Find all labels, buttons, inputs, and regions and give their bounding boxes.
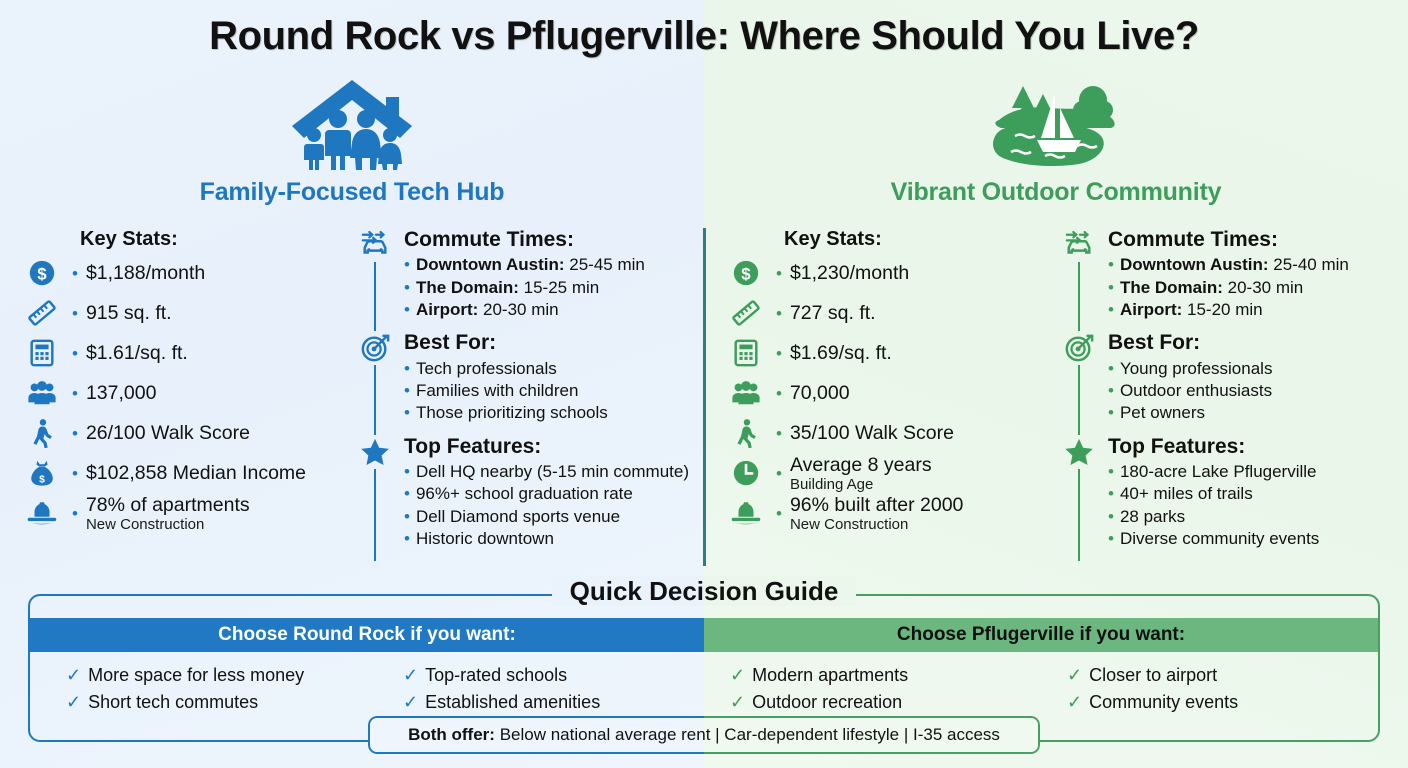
section-title: Top Features: [1108,435,1319,458]
calculator-icon [718,333,774,373]
list-item-text: Families with children [416,381,579,400]
check-icon: ✓ [66,665,81,685]
list-bullet: • [72,465,78,482]
stat-sublabel: New Construction [790,516,963,533]
svg-text:$: $ [37,265,47,284]
list-item-label: Airport: [416,300,478,319]
stat-value: $1,188/month [86,262,205,285]
guide-title: Quick Decision Guide [552,576,857,606]
check-icon: ✓ [730,665,745,685]
section-connector-line [374,262,376,331]
detail-sections-round-rock: Commute Times:•Downtown Austin: 25-45 mi… [352,228,692,561]
list-item: •Downtown Austin: 25-40 min [1108,254,1349,276]
stat-value: 78% of apartments [86,494,250,517]
dollar-coin-icon: $ [718,253,774,293]
list-item: •Families with children [404,380,608,402]
lake-sailboat-trees-icon [704,76,1408,172]
ruler-icon [718,293,774,333]
people-group-icon [718,373,774,413]
check-icon: ✓ [1067,692,1082,712]
list-item-label: The Domain: [1120,278,1223,297]
stat-value: 26/100 Walk Score [86,422,250,445]
check-icon: ✓ [403,665,418,685]
list-item: •96%+ school graduation rate [404,483,689,505]
list-bullet: • [404,462,410,481]
checklist-item-text: Top-rated schools [425,665,567,685]
stat-row: $•$102,858 Median Income [14,453,352,493]
list-bullet: • [1108,359,1114,378]
hero-tagline-right: Vibrant Outdoor Community [704,178,1408,207]
checklist-item-text: Short tech commutes [88,692,258,712]
stat-value: $102,858 Median Income [86,462,306,485]
list-item: •28 parks [1108,506,1319,528]
stat-value: $1.69/sq. ft. [790,342,892,365]
list-item: •The Domain: 20-30 min [1108,277,1349,299]
guide-list-right-2: ✓Closer to airport✓Community events [1041,662,1378,716]
hard-hat-icon [14,493,70,533]
star-icon [360,435,390,469]
list-bullet: • [404,484,410,503]
list-bullet: • [404,278,410,297]
checklist-item-text: More space for less money [88,665,304,685]
list-bullet: • [404,529,410,548]
list-bullet: • [72,505,78,522]
stat-row: •$1.61/sq. ft. [14,333,352,373]
guide-header-pflugerville: Choose Pflugerville if you want: [704,618,1378,652]
guide-list-right-1: ✓Modern apartments✓Outdoor recreation [704,662,1041,716]
list-item: •Historic downtown [404,528,689,550]
clock-icon [718,453,774,493]
checklist-item: ✓Short tech commutes [66,689,367,716]
guide-header-round-rock: Choose Round Rock if you want: [30,618,704,652]
walking-person-icon [14,413,70,453]
both-offer-label: Both offer: [408,725,495,744]
list-item: •Dell Diamond sports venue [404,506,689,528]
stat-value: $1,230/month [790,262,909,285]
svg-text:$: $ [741,265,751,284]
checklist-item: ✓Outdoor recreation [730,689,1041,716]
hero-pflugerville: Vibrant Outdoor Community [704,76,1408,207]
stat-row: $•$1,230/month [718,253,1056,293]
detail-section: Top Features:•Dell HQ nearby (5-15 min c… [352,435,692,561]
list-bullet: • [72,345,78,362]
section-title: Commute Times: [1108,228,1349,251]
list-item-text: 20-30 min [483,300,559,319]
hero-round-rock: Family-Focused Tech Hub [0,76,704,207]
list-item: •Airport: 20-30 min [404,299,645,321]
stat-row: •26/100 Walk Score [14,413,352,453]
list-bullet: • [404,507,410,526]
list-item-text: 180-acre Lake Pflugerville [1120,462,1317,481]
section-title: Top Features: [404,435,689,458]
section-connector-line [1078,262,1080,331]
detail-section: Best For:•Tech professionals•Families wi… [352,331,692,434]
checklist-item: ✓Top-rated schools [403,662,704,689]
calculator-icon [14,333,70,373]
key-stats-heading-left: Key Stats: [80,228,352,251]
list-item: •Dell HQ nearby (5-15 min commute) [404,461,689,483]
guide-list-left-2: ✓Top-rated schools✓Established amenities [367,662,704,716]
target-dart-icon [360,331,390,365]
ruler-icon [14,293,70,333]
list-item-text: 40+ miles of trails [1120,484,1253,503]
list-item-text: 15-20 min [1187,300,1263,319]
list-bullet: • [776,265,782,282]
checklist-item-text: Established amenities [425,692,600,712]
list-item-text: Pet owners [1120,403,1205,422]
stat-value: Average 8 years [790,454,932,477]
stat-value: 96% built after 2000 [790,494,963,517]
list-item-label: Downtown Austin: [1120,255,1269,274]
detail-section: Top Features:•180-acre Lake Pflugerville… [1056,435,1400,561]
hero-tagline-left: Family-Focused Tech Hub [0,178,704,207]
list-item: •180-acre Lake Pflugerville [1108,461,1319,483]
list-bullet: • [1108,507,1114,526]
stat-row: •915 sq. ft. [14,293,352,333]
detail-sections-pflugerville: Commute Times:•Downtown Austin: 25-40 mi… [1056,228,1400,561]
section-connector-line [1078,469,1080,561]
both-offer-callout: Both offer: Below national average rent … [368,716,1040,754]
checklist-item-text: Modern apartments [752,665,908,685]
stat-value: 137,000 [86,382,157,405]
detail-section: Commute Times:•Downtown Austin: 25-40 mi… [1056,228,1400,331]
list-item: •Pet owners [1108,402,1272,424]
stat-row: •$1.69/sq. ft. [718,333,1056,373]
list-bullet: • [776,345,782,362]
list-item-text: Young professionals [1120,359,1273,378]
infographic-root: Round Rock vs Pflugerville: Where Should… [0,0,1408,768]
checklist-item: ✓More space for less money [66,662,367,689]
section-connector-line [1078,365,1080,434]
stat-row: •Average 8 yearsBuilding Age [718,453,1056,493]
both-offer-body: Below national average rent | Car-depend… [500,725,1000,744]
list-item-text: Diverse community events [1120,529,1319,548]
guide-column-round-rock: ✓More space for less money✓Short tech co… [30,662,704,716]
list-item-text: 20-30 min [1228,278,1304,297]
list-bullet: • [1108,403,1114,422]
page-title: Round Rock vs Pflugerville: Where Should… [0,14,1408,59]
money-bag-icon: $ [14,453,70,493]
list-item: •Outdoor enthusiasts [1108,380,1272,402]
section-title: Commute Times: [404,228,645,251]
checklist-item: ✓Modern apartments [730,662,1041,689]
stat-row: •727 sq. ft. [718,293,1056,333]
list-bullet: • [404,381,410,400]
stat-row: •96% built after 2000New Construction [718,493,1056,533]
list-item: •Those prioritizing schools [404,402,608,424]
list-bullet: • [1108,300,1114,319]
stat-value: 70,000 [790,382,850,405]
list-bullet: • [1108,381,1114,400]
check-icon: ✓ [1067,665,1082,685]
list-bullet: • [776,505,782,522]
list-item-text: Those prioritizing schools [416,403,608,422]
checklist-item: ✓Community events [1067,689,1378,716]
list-item: •Airport: 15-20 min [1108,299,1349,321]
list-item-text: Tech professionals [416,359,557,378]
key-stats-round-rock: Key Stats: $•$1,188/month •915 sq. ft. •… [14,228,352,533]
list-item: •The Domain: 15-25 min [404,277,645,299]
section-title: Best For: [404,331,608,354]
guide-list-left-1: ✓More space for less money✓Short tech co… [30,662,367,716]
list-bullet: • [776,305,782,322]
list-item: •Diverse community events [1108,528,1319,550]
list-bullet: • [404,300,410,319]
center-divider [703,228,706,566]
list-item-text: 15-25 min [524,278,600,297]
stat-value: $1.61/sq. ft. [86,342,188,365]
stat-row: •78% of apartmentsNew Construction [14,493,352,533]
detail-section: Best For:•Young professionals•Outdoor en… [1056,331,1400,434]
stat-value: 915 sq. ft. [86,302,172,325]
both-offer-text: Both offer: Below national average rent … [408,725,1000,745]
list-item-text: 25-45 min [569,255,645,274]
guide-column-pflugerville: ✓Modern apartments✓Outdoor recreation ✓C… [704,662,1378,716]
key-stats-heading-right: Key Stats: [784,228,1056,251]
list-bullet: • [72,425,78,442]
stat-row: •70,000 [718,373,1056,413]
star-icon [1064,435,1094,469]
detail-section: Commute Times:•Downtown Austin: 25-45 mi… [352,228,692,331]
check-icon: ✓ [730,692,745,712]
car-commute-icon [360,228,390,262]
section-title: Best For: [1108,331,1272,354]
list-item: •40+ miles of trails [1108,483,1319,505]
stat-sublabel: New Construction [86,516,250,533]
list-bullet: • [1108,462,1114,481]
list-item-text: 25-40 min [1273,255,1349,274]
check-icon: ✓ [66,692,81,712]
walking-person-icon [718,413,774,453]
list-bullet: • [72,385,78,402]
guide-title-wrap: Quick Decision Guide [28,576,1380,607]
list-item-text: 28 parks [1120,507,1185,526]
list-bullet: • [404,255,410,274]
list-bullet: • [1108,484,1114,503]
checklist-item-text: Outdoor recreation [752,692,902,712]
stat-value: 727 sq. ft. [790,302,876,325]
list-item: •Downtown Austin: 25-45 min [404,254,645,276]
list-bullet: • [1108,255,1114,274]
list-item-text: 96%+ school graduation rate [416,484,633,503]
list-item-label: The Domain: [416,278,519,297]
stat-sublabel: Building Age [790,476,932,493]
list-bullet: • [404,403,410,422]
checklist-item-text: Community events [1089,692,1238,712]
list-item: •Young professionals [1108,358,1272,380]
stat-row: $•$1,188/month [14,253,352,293]
list-item: •Tech professionals [404,358,608,380]
stat-row: •35/100 Walk Score [718,413,1056,453]
list-item-label: Downtown Austin: [416,255,565,274]
list-bullet: • [72,305,78,322]
list-item-text: Dell Diamond sports venue [416,507,620,526]
people-group-icon [14,373,70,413]
target-dart-icon [1064,331,1094,365]
list-bullet: • [72,265,78,282]
list-bullet: • [404,359,410,378]
list-bullet: • [776,385,782,402]
section-connector-line [374,469,376,561]
checklist-item: ✓Established amenities [403,689,704,716]
list-item-label: Airport: [1120,300,1182,319]
list-bullet: • [776,425,782,442]
stat-row: •137,000 [14,373,352,413]
checklist-item: ✓Closer to airport [1067,662,1378,689]
dollar-coin-icon: $ [14,253,70,293]
car-commute-icon [1064,228,1094,262]
house-with-family-icon [0,76,704,172]
list-item-text: Outdoor enthusiasts [1120,381,1272,400]
list-bullet: • [776,465,782,482]
list-item-text: Dell HQ nearby (5-15 min commute) [416,462,689,481]
list-bullet: • [1108,278,1114,297]
list-item-text: Historic downtown [416,529,554,548]
section-connector-line [374,365,376,434]
stat-value: 35/100 Walk Score [790,422,954,445]
checklist-item-text: Closer to airport [1089,665,1217,685]
list-bullet: • [1108,529,1114,548]
check-icon: ✓ [403,692,418,712]
key-stats-pflugerville: Key Stats: $•$1,230/month •727 sq. ft. •… [718,228,1056,533]
hard-hat-icon [718,493,774,533]
svg-text:$: $ [39,474,45,485]
